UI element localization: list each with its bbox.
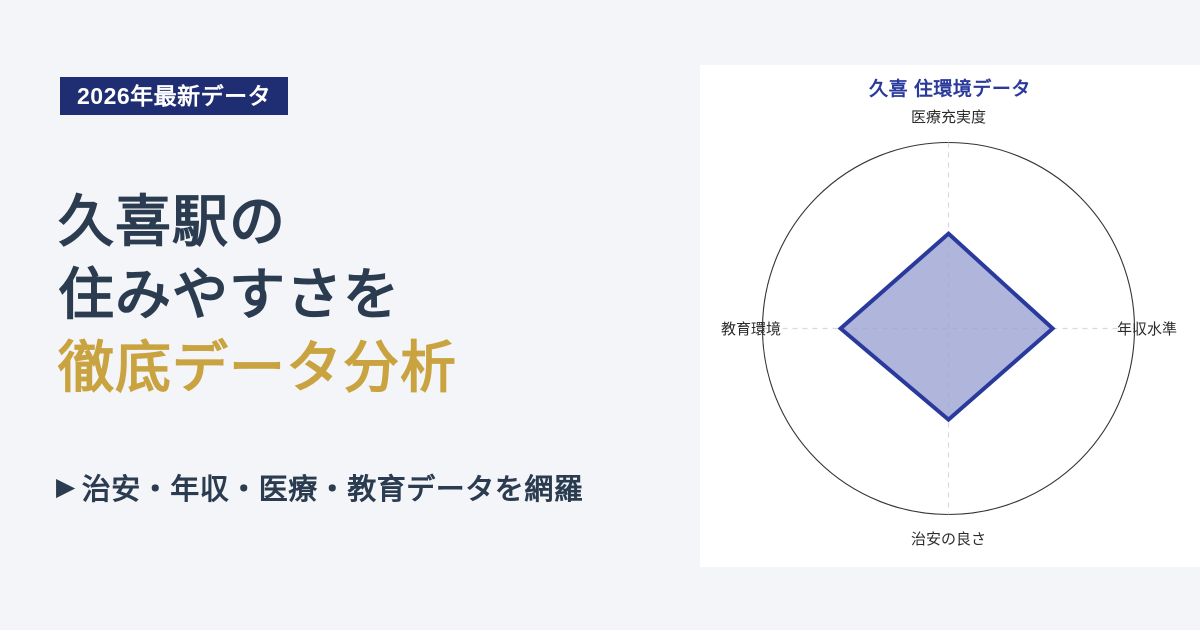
editorial-column: 2026年最新データ 久喜駅の 住みやすさを 徹底データ分析 ▶ 治安・年収・医… xyxy=(0,0,700,630)
headline-line-3: 徹底データ分析 xyxy=(58,332,678,405)
axis-label-left: 教育環境 xyxy=(721,320,781,338)
page-title: 久喜駅の 住みやすさを 徹底データ分析 xyxy=(58,186,678,404)
headline-line-1: 久喜駅の xyxy=(58,186,678,259)
axis-label-right: 年収水準 xyxy=(1117,321,1177,338)
subtitle: ▶ 治安・年収・医療・教育データを網羅 xyxy=(56,466,583,508)
axis-label-bottom: 治安の良さ xyxy=(911,531,986,548)
subtitle-text: 治安・年収・医療・教育データを網羅 xyxy=(82,466,584,508)
headline-line-2: 住みやすさを xyxy=(58,259,678,332)
radar-chart: 医療充実度 年収水準 治安の良さ 教育環境 xyxy=(700,65,1200,567)
data-year-badge: 2026年最新データ xyxy=(60,77,288,115)
radar-chart-panel: 久喜 住環境データ 医療充実度 年収水準 治安の良さ 教育環境 xyxy=(700,65,1200,567)
radar-data-polygon xyxy=(841,234,1053,420)
play-arrow-icon: ▶ xyxy=(56,475,76,500)
axis-label-top: 医療充実度 xyxy=(911,109,986,126)
